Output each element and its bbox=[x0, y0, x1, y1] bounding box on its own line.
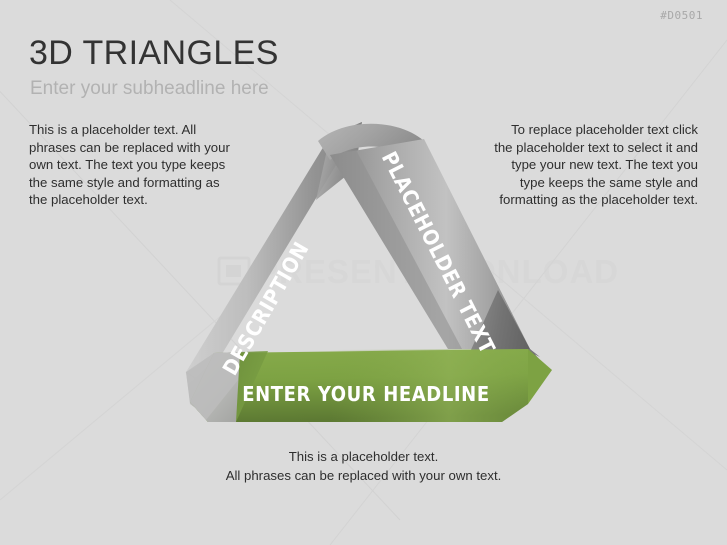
band-bottom-label: ENTER YOUR HEADLINE bbox=[242, 382, 490, 406]
slide-canvas: #D0501 3D TRIANGLES Enter your subheadli… bbox=[0, 0, 727, 545]
band-bottom-right-tip bbox=[528, 349, 552, 404]
triangle-diagram: PRESENTATIONLOAD bbox=[0, 0, 727, 545]
